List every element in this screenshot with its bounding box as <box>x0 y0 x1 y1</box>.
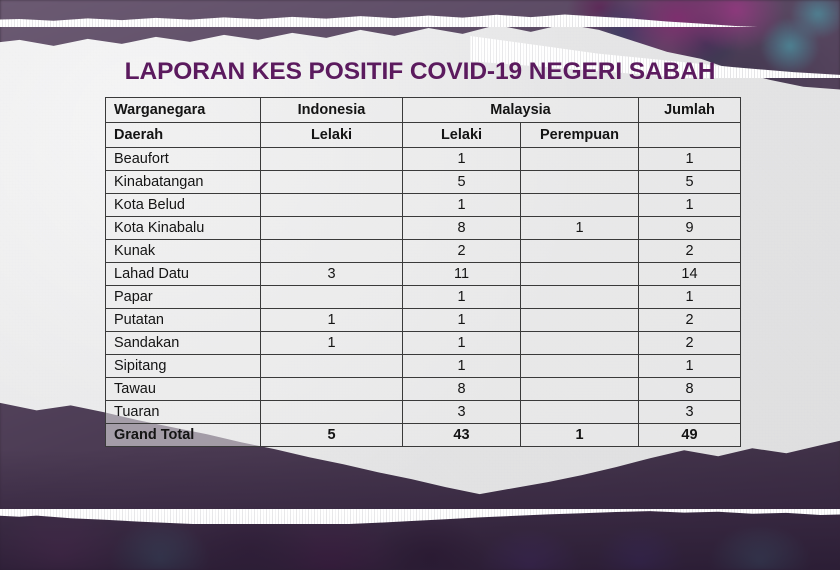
cell-daerah: Kota Belud <box>106 194 261 217</box>
cell-daerah: Kunak <box>106 240 261 263</box>
cell-daerah: Lahad Datu <box>106 263 261 286</box>
cell-grand-total-label: Grand Total <box>106 424 261 447</box>
cell-daerah: Beaufort <box>106 148 261 171</box>
header-indonesia-lelaki: Lelaki <box>261 123 403 148</box>
cell-jumlah: 8 <box>639 378 741 401</box>
cell-indonesia-lelaki <box>261 286 403 309</box>
slide-canvas: LAPORAN KES POSITIF COVID-19 NEGERI SABA… <box>0 0 840 570</box>
cell-malaysia-perempuan <box>521 171 639 194</box>
cell-jumlah: 5 <box>639 171 741 194</box>
cell-malaysia-lelaki: 2 <box>403 240 521 263</box>
cell-indonesia-lelaki: 1 <box>261 332 403 355</box>
cell-grand-total-malaysia-perempuan: 1 <box>521 424 639 447</box>
slide-title: LAPORAN KES POSITIF COVID-19 NEGERI SABA… <box>0 58 840 86</box>
cell-indonesia-lelaki: 1 <box>261 309 403 332</box>
cell-daerah: Sipitang <box>106 355 261 378</box>
cell-malaysia-perempuan <box>521 286 639 309</box>
header-daerah: Daerah <box>106 123 261 148</box>
table-row: Kinabatangan55 <box>106 171 741 194</box>
cell-daerah: Tuaran <box>106 401 261 424</box>
cell-indonesia-lelaki <box>261 355 403 378</box>
cell-malaysia-lelaki: 5 <box>403 171 521 194</box>
cell-malaysia-lelaki: 1 <box>403 148 521 171</box>
cell-malaysia-perempuan: 1 <box>521 217 639 240</box>
table-header-row-daerah: Daerah Lelaki Lelaki Perempuan <box>106 123 741 148</box>
cell-jumlah: 1 <box>639 286 741 309</box>
table-header: Warganegara Indonesia Malaysia Jumlah Da… <box>106 98 741 148</box>
table-row: Kunak22 <box>106 240 741 263</box>
cell-indonesia-lelaki <box>261 217 403 240</box>
cell-indonesia-lelaki <box>261 401 403 424</box>
table-row: Lahad Datu31114 <box>106 263 741 286</box>
cell-jumlah: 9 <box>639 217 741 240</box>
table-row: Kota Kinabalu819 <box>106 217 741 240</box>
cell-grand-total-jumlah: 49 <box>639 424 741 447</box>
cell-jumlah: 3 <box>639 401 741 424</box>
cell-daerah: Kinabatangan <box>106 171 261 194</box>
cell-indonesia-lelaki <box>261 240 403 263</box>
cell-malaysia-lelaki: 11 <box>403 263 521 286</box>
header-jumlah: Jumlah <box>639 98 741 123</box>
report-table-container: Warganegara Indonesia Malaysia Jumlah Da… <box>105 97 740 447</box>
cell-daerah: Kota Kinabalu <box>106 217 261 240</box>
cell-indonesia-lelaki <box>261 171 403 194</box>
table-row: Tawau88 <box>106 378 741 401</box>
table-header-row-warganegara: Warganegara Indonesia Malaysia Jumlah <box>106 98 741 123</box>
cell-daerah: Sandakan <box>106 332 261 355</box>
table-row: Putatan112 <box>106 309 741 332</box>
cell-jumlah: 1 <box>639 355 741 378</box>
cell-grand-total-malaysia-lelaki: 43 <box>403 424 521 447</box>
cell-malaysia-lelaki: 8 <box>403 217 521 240</box>
table-row: Papar11 <box>106 286 741 309</box>
cell-malaysia-perempuan <box>521 148 639 171</box>
table-row: Sandakan112 <box>106 332 741 355</box>
cell-malaysia-lelaki: 1 <box>403 194 521 217</box>
cell-malaysia-perempuan <box>521 378 639 401</box>
header-indonesia: Indonesia <box>261 98 403 123</box>
cell-indonesia-lelaki: 3 <box>261 263 403 286</box>
slide-content: LAPORAN KES POSITIF COVID-19 NEGERI SABA… <box>0 0 840 570</box>
table-body: Beaufort11Kinabatangan55Kota Belud11Kota… <box>106 148 741 447</box>
cell-indonesia-lelaki <box>261 378 403 401</box>
cell-malaysia-perempuan <box>521 401 639 424</box>
cell-jumlah: 2 <box>639 332 741 355</box>
cell-malaysia-perempuan <box>521 263 639 286</box>
cell-jumlah: 2 <box>639 240 741 263</box>
cell-indonesia-lelaki <box>261 194 403 217</box>
covid-report-table: Warganegara Indonesia Malaysia Jumlah Da… <box>105 97 741 447</box>
cell-malaysia-lelaki: 8 <box>403 378 521 401</box>
cell-malaysia-perempuan <box>521 355 639 378</box>
header-warganegara: Warganegara <box>106 98 261 123</box>
header-jumlah-sub <box>639 123 741 148</box>
cell-malaysia-lelaki: 3 <box>403 401 521 424</box>
cell-jumlah: 1 <box>639 148 741 171</box>
cell-malaysia-perempuan <box>521 194 639 217</box>
cell-malaysia-lelaki: 1 <box>403 332 521 355</box>
cell-malaysia-lelaki: 1 <box>403 309 521 332</box>
header-malaysia-lelaki: Lelaki <box>403 123 521 148</box>
table-row: Beaufort11 <box>106 148 741 171</box>
cell-jumlah: 14 <box>639 263 741 286</box>
cell-malaysia-perempuan <box>521 309 639 332</box>
table-row: Kota Belud11 <box>106 194 741 217</box>
header-malaysia-perempuan: Perempuan <box>521 123 639 148</box>
cell-malaysia-perempuan <box>521 240 639 263</box>
table-row: Tuaran33 <box>106 401 741 424</box>
cell-daerah: Putatan <box>106 309 261 332</box>
cell-indonesia-lelaki <box>261 148 403 171</box>
table-row: Sipitang11 <box>106 355 741 378</box>
cell-grand-total-indonesia-lelaki: 5 <box>261 424 403 447</box>
cell-jumlah: 1 <box>639 194 741 217</box>
table-row-grand-total: Grand Total543149 <box>106 424 741 447</box>
cell-jumlah: 2 <box>639 309 741 332</box>
cell-daerah: Papar <box>106 286 261 309</box>
header-malaysia: Malaysia <box>403 98 639 123</box>
cell-malaysia-lelaki: 1 <box>403 355 521 378</box>
cell-malaysia-lelaki: 1 <box>403 286 521 309</box>
cell-malaysia-perempuan <box>521 332 639 355</box>
cell-daerah: Tawau <box>106 378 261 401</box>
